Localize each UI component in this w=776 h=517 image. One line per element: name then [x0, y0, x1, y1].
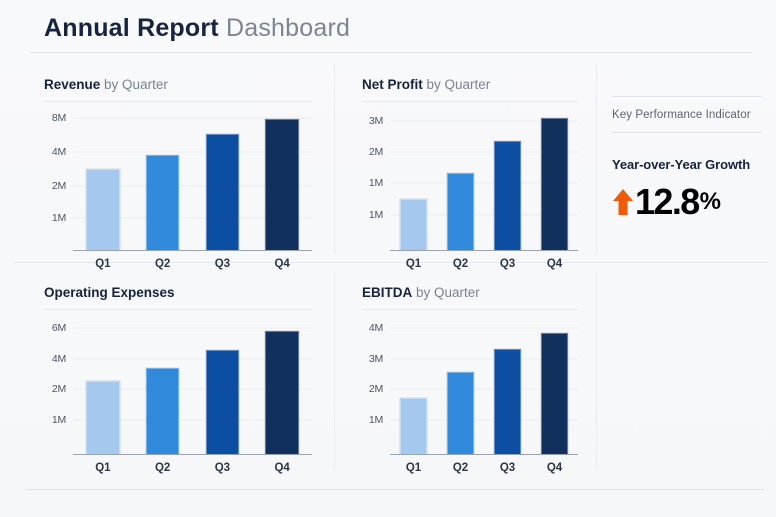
x-axis-tick-label: Q1 [73, 462, 133, 474]
kpi-unit: % [699, 190, 720, 214]
bar[interactable] [86, 169, 119, 249]
panel-title-ebitda-strong: EBITDA [362, 285, 412, 300]
kpi-metric-label: Year-over-Year Growth [612, 133, 762, 172]
panel-title-ebitda: EBITDA by Quarter [362, 286, 578, 300]
page-title: Annual Report Dashboard [44, 14, 350, 43]
panel-title-net-profit-light: by Quarter [427, 77, 491, 92]
column-divider-bottom-left [334, 272, 335, 470]
panel-title-revenue-strong: Revenue [44, 77, 100, 92]
x-axis-tick-label: Q2 [133, 258, 193, 270]
y-axis-tick-label: 1M [369, 177, 390, 189]
panel-operating-expenses: Operating Expenses 6M4M2M1MQ1Q2Q3Q4 [44, 286, 312, 476]
x-axis-tick-label: Q1 [390, 462, 437, 474]
x-axis-tick-label: Q2 [437, 462, 484, 474]
x-axis-tick-label: Q3 [193, 258, 253, 270]
y-axis-tick-label: 1M [369, 414, 390, 426]
x-axis-tick-label: Q2 [437, 258, 484, 270]
panel-ebitda: EBITDA by Quarter 4M3M2M1MQ1Q2Q3Q4 [362, 286, 578, 476]
bar-slot [484, 115, 531, 250]
x-axis-baseline [73, 454, 312, 456]
page-title-light: Dashboard [226, 14, 350, 42]
footer-divider [26, 489, 764, 490]
x-axis-baseline [390, 250, 578, 252]
bar-slot [437, 323, 484, 454]
x-axis-tick-label: Q4 [252, 258, 312, 270]
y-axis-tick-label: 4M [52, 353, 73, 365]
y-axis-tick-label: 1M [52, 212, 73, 224]
bar[interactable] [447, 372, 473, 453]
y-axis-tick-label: 8M [52, 112, 73, 124]
column-divider-bottom-right [596, 272, 597, 470]
column-divider-top-right [596, 64, 597, 254]
bar[interactable] [447, 173, 473, 250]
y-axis-tick-label: 3M [369, 353, 390, 365]
y-axis-tick-label: 3M [369, 115, 390, 127]
chart-ebitda: 4M3M2M1MQ1Q2Q3Q4 [390, 323, 578, 454]
panel-title-revenue-light: by Quarter [104, 77, 168, 92]
bar-slot [73, 115, 133, 250]
panel-title-operating-expenses: Operating Expenses [44, 286, 312, 300]
bar-slot [437, 115, 484, 250]
x-axis-tick-label: Q3 [484, 258, 531, 270]
x-axis-tick-label: Q3 [193, 462, 253, 474]
panel-title-revenue: Revenue by Quarter [44, 78, 312, 92]
x-axis-tick-label: Q4 [531, 462, 578, 474]
dashboard-page: Annual Report Dashboard Revenue by Quart… [0, 0, 776, 517]
panel-title-rule-operating-expenses [44, 309, 312, 310]
bar-slot [531, 323, 578, 454]
plot-area [73, 323, 312, 454]
panel-kpi: Key Performance Indicator Year-over-Year… [612, 96, 762, 220]
bar-slot [531, 115, 578, 250]
bar[interactable] [146, 368, 179, 454]
x-axis-labels: Q1Q2Q3Q4 [73, 258, 312, 270]
y-axis-tick-label: 2M [52, 180, 73, 192]
chart-operating-expenses: 6M4M2M1MQ1Q2Q3Q4 [73, 323, 312, 454]
panel-title-net-profit: Net Profit by Quarter [362, 78, 578, 92]
y-axis-tick-label: 6M [52, 322, 73, 334]
panel-title-rule-net-profit [362, 101, 578, 102]
bar[interactable] [86, 381, 119, 454]
kpi-value: 12.8 [635, 184, 699, 220]
panel-title-net-profit-strong: Net Profit [362, 77, 423, 92]
x-axis-tick-label: Q4 [252, 462, 312, 474]
panel-title-ebitda-light: by Quarter [416, 285, 480, 300]
bar-slot [193, 115, 253, 250]
arrow-up-icon [612, 187, 634, 217]
bar-slot [133, 115, 193, 250]
y-axis-tick-label: 1M [369, 209, 390, 221]
panel-title-rule-revenue [44, 101, 312, 102]
chart-revenue: 8M4M2M1MQ1Q2Q3Q4 [73, 115, 312, 250]
x-axis-tick-label: Q2 [133, 462, 193, 474]
bar-slot [252, 323, 312, 454]
bar[interactable] [400, 398, 426, 454]
plot-area [390, 323, 578, 454]
header-divider [30, 52, 752, 53]
bar-slot [390, 115, 437, 250]
x-axis-labels: Q1Q2Q3Q4 [390, 258, 578, 270]
page-title-strong: Annual Report [44, 14, 219, 42]
y-axis-tick-label: 4M [52, 146, 73, 158]
x-axis-tick-label: Q3 [484, 462, 531, 474]
bar[interactable] [265, 119, 298, 249]
bar[interactable] [265, 331, 298, 454]
bar-slot [73, 323, 133, 454]
x-axis-tick-label: Q1 [73, 258, 133, 270]
bar[interactable] [494, 349, 520, 453]
panel-net-profit: Net Profit by Quarter 3M2M1M1MQ1Q2Q3Q4 [362, 78, 578, 272]
bar-slot [133, 323, 193, 454]
y-axis-tick-label: 4M [369, 322, 390, 334]
x-axis-labels: Q1Q2Q3Q4 [73, 462, 312, 474]
plot-area [73, 115, 312, 250]
bar[interactable] [494, 141, 520, 250]
page-header: Annual Report Dashboard [0, 0, 776, 56]
bar[interactable] [400, 199, 426, 250]
bar-slot [193, 323, 253, 454]
bar[interactable] [146, 155, 179, 249]
panel-revenue: Revenue by Quarter 8M4M2M1MQ1Q2Q3Q4 [44, 78, 312, 272]
bar[interactable] [206, 134, 239, 250]
bar-slot [252, 115, 312, 250]
bar[interactable] [541, 333, 567, 453]
y-axis-tick-label: 2M [369, 383, 390, 395]
x-axis-baseline [390, 454, 578, 456]
x-axis-tick-label: Q1 [390, 258, 437, 270]
panel-title-rule-ebitda [362, 309, 578, 310]
bar[interactable] [541, 118, 567, 249]
x-axis-baseline [73, 250, 312, 252]
kpi-caption: Key Performance Indicator [612, 97, 762, 132]
plot-area [390, 115, 578, 250]
bar-slot [390, 323, 437, 454]
bar[interactable] [206, 350, 239, 454]
x-axis-tick-label: Q4 [531, 258, 578, 270]
kpi-value-row: 12.8 % [612, 172, 762, 220]
y-axis-tick-label: 2M [52, 383, 73, 395]
column-divider-top-left [334, 64, 335, 254]
chart-net-profit: 3M2M1M1MQ1Q2Q3Q4 [390, 115, 578, 250]
bar-slot [484, 323, 531, 454]
y-axis-tick-label: 2M [369, 146, 390, 158]
x-axis-labels: Q1Q2Q3Q4 [390, 462, 578, 474]
y-axis-tick-label: 1M [52, 414, 73, 426]
panel-title-operating-expenses-strong: Operating Expenses [44, 285, 175, 300]
